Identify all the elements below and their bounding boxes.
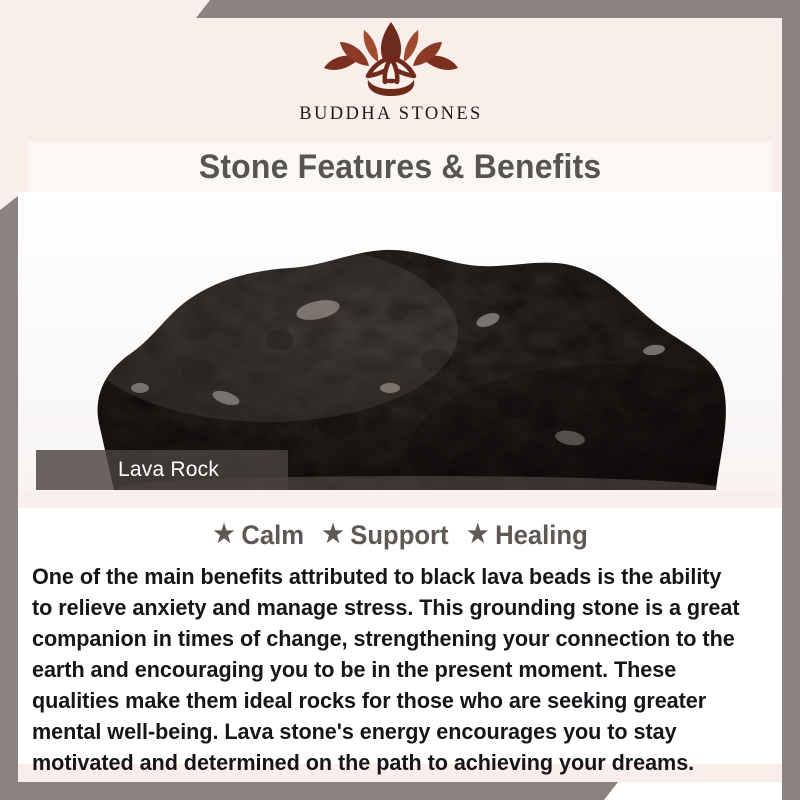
- keyword-row: ★ Calm ★ Support ★ Healing: [32, 520, 770, 551]
- body-paragraph: One of the main benefits attributed to b…: [32, 561, 744, 778]
- frame-bar-bottom: [0, 782, 618, 800]
- star-icon: ★: [214, 522, 235, 547]
- keyword-healing: ★ Healing: [467, 520, 588, 551]
- page-title: Stone Features & Benefits: [199, 148, 602, 187]
- keyword-label: Support: [350, 520, 448, 551]
- keyword-support: ★ Support: [322, 520, 448, 551]
- title-banner: Stone Features & Benefits: [28, 142, 772, 192]
- keyword-label: Healing: [495, 520, 588, 551]
- lava-rock-image: [18, 192, 782, 490]
- brand-name: BUDDHA STONES: [299, 104, 483, 125]
- section-separator: [18, 490, 782, 508]
- content-area: ★ Calm ★ Support ★ Healing One of the ma…: [18, 508, 782, 764]
- frame-bar-right: [782, 0, 800, 800]
- infographic-card: BUDDHA STONES Stone Features & Benefits: [0, 0, 800, 800]
- keyword-calm: ★ Calm: [214, 520, 305, 551]
- lotus-meditation-logo-icon: [316, 18, 466, 102]
- brand-header: BUDDHA STONES: [0, 0, 782, 148]
- keyword-label: Calm: [242, 520, 305, 551]
- star-icon: ★: [467, 522, 488, 547]
- lava-rock-photo: Lava Rock: [18, 192, 782, 490]
- star-icon: ★: [322, 522, 343, 547]
- stone-label-text: Lava Rock: [118, 458, 219, 482]
- stone-label-band: Lava Rock: [36, 450, 288, 490]
